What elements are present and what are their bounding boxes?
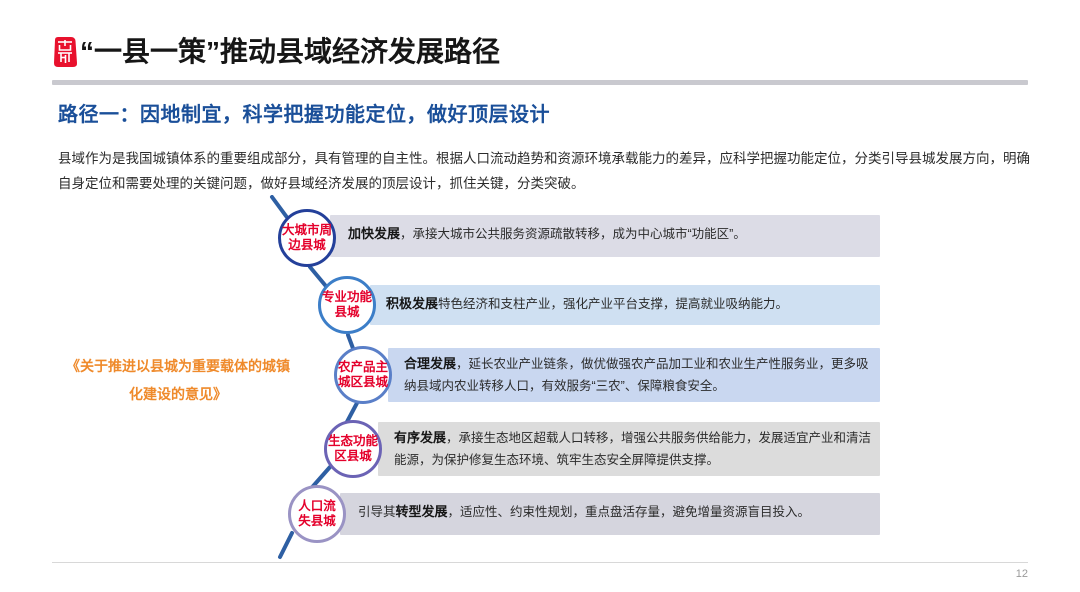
circle-line: 失县城 xyxy=(298,514,336,529)
row-body: ，延长农业产业链条，做优做强农产品加工业和农业生产性服务业，更多吸纳县域内农业转… xyxy=(404,357,869,393)
row-lead: 积极发展 xyxy=(386,296,438,311)
row-lead: 合理发展 xyxy=(404,356,456,371)
row-description: 引导其转型发展，适应性、约束性规划，重点盘活存量，避免增量资源盲目投入。 xyxy=(358,501,876,523)
row-prefix: 引导其 xyxy=(358,505,396,519)
circle-line: 生态功能 xyxy=(328,434,378,449)
section-heading: 路径一：因地制宜，科学把握功能定位，做好顶层设计 xyxy=(58,98,550,127)
circle-line: 县城 xyxy=(334,305,359,320)
category-circle: 人口流 失县城 xyxy=(288,485,346,543)
category-circle: 大城市周 边县城 xyxy=(278,209,336,267)
category-circle: 生态功能 区县城 xyxy=(324,420,382,478)
pathway-diagram: 加快发展，承接大城市公共服务资源疏散转移，成为中心城市“功能区”。 大城市周 边… xyxy=(0,195,1080,565)
category-circle: 农产品主 城区县城 xyxy=(334,346,392,404)
category-circle: 专业功能 县城 xyxy=(318,276,376,334)
red-seal-icon xyxy=(52,36,78,68)
circle-line: 专业功能 xyxy=(322,290,372,305)
circle-line: 农产品主 xyxy=(338,360,388,375)
circle-line: 人口流 xyxy=(298,499,336,514)
row-body: ，承接大城市公共服务资源疏散转移，成为中心城市“功能区”。 xyxy=(400,227,746,241)
row-description: 有序发展，承接生态地区超载人口转移，增强公共服务供给能力，发展适宜产业和清洁能源… xyxy=(394,427,874,471)
circle-line: 大城市周 xyxy=(282,223,332,238)
row-lead: 有序发展 xyxy=(394,430,446,445)
circle-line: 区县城 xyxy=(334,449,372,464)
row-description: 积极发展特色经济和支柱产业，强化产业平台支撑，提高就业吸纳能力。 xyxy=(386,293,876,315)
footer-divider xyxy=(52,562,1028,563)
slide-root: “一县一策”推动县域经济发展路径 路径一：因地制宜，科学把握功能定位，做好顶层设… xyxy=(0,0,1080,592)
row-lead: 加快发展 xyxy=(348,226,400,241)
row-description: 合理发展，延长农业产业链条，做优做强农产品加工业和农业生产性服务业，更多吸纳县域… xyxy=(404,353,874,397)
title-divider xyxy=(52,80,1028,85)
row-body: ，适应性、约束性规划，重点盘活存量，避免增量资源盲目投入。 xyxy=(448,505,811,519)
page-number: 12 xyxy=(1016,568,1028,580)
row-lead: 转型发展 xyxy=(396,504,448,519)
page-title: “一县一策”推动县域经济发展路径 xyxy=(80,38,500,66)
circle-line: 城区县城 xyxy=(338,375,388,390)
row-body: ，承接生态地区超载人口转移，增强公共服务供给能力，发展适宜产业和清洁能源，为保护… xyxy=(394,431,871,467)
row-body: 特色经济和支柱产业，强化产业平台支撑，提高就业吸纳能力。 xyxy=(438,297,788,311)
row-description: 加快发展，承接大城市公共服务资源疏散转移，成为中心城市“功能区”。 xyxy=(348,223,876,245)
slide-title-row: “一县一策”推动县域经济发展路径 xyxy=(52,30,500,74)
body-paragraph: 县域作为是我国城镇体系的重要组成部分，具有管理的自主性。根据人口流动趋势和资源环… xyxy=(58,146,1030,196)
circle-line: 边县城 xyxy=(288,238,326,253)
